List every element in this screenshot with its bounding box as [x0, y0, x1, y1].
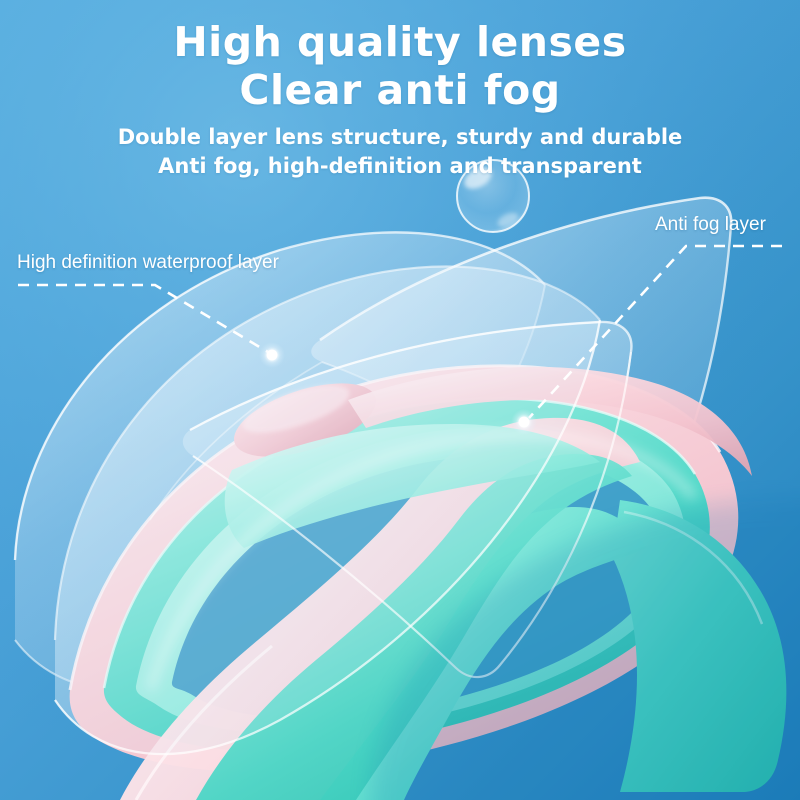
product-feature-image: High quality lenses Clear anti fog Doubl…	[0, 0, 800, 800]
illustration-canvas	[0, 0, 800, 800]
water-bubble	[457, 160, 529, 232]
